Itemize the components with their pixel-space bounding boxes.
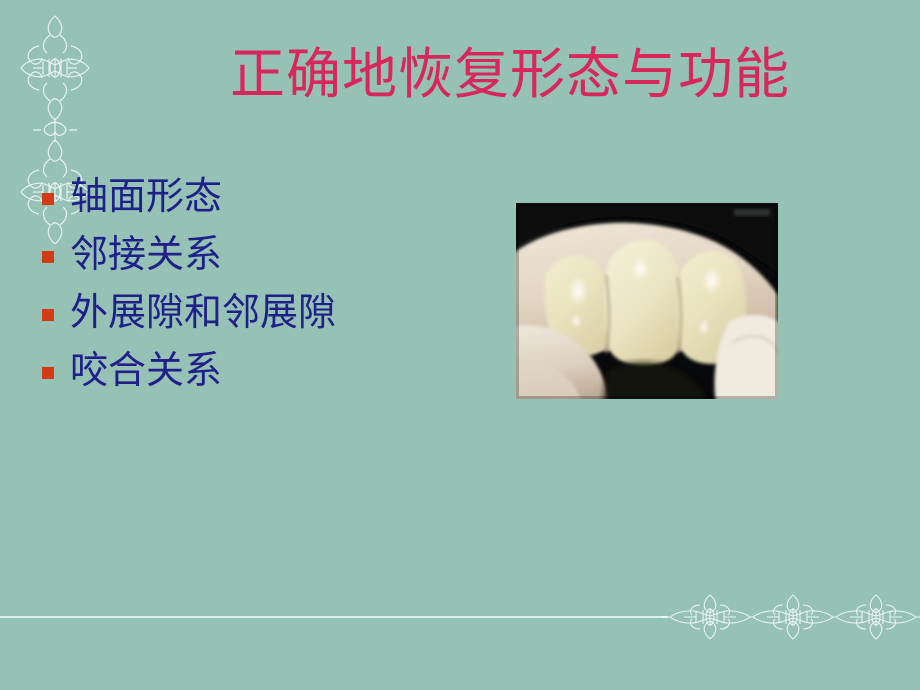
dental-photo-image bbox=[516, 203, 778, 399]
list-item-label: 外展隙和邻展隙 bbox=[70, 291, 336, 335]
horizontal-rule bbox=[0, 616, 668, 618]
page-title: 正确地恢复形态与功能 bbox=[180, 44, 840, 106]
dental-photo bbox=[516, 203, 778, 399]
list-item[interactable]: 轴面形态 bbox=[42, 168, 492, 226]
list-item[interactable]: 邻接关系 bbox=[42, 226, 492, 284]
list-item-label: 轴面形态 bbox=[70, 175, 222, 219]
slide-canvas: 正确地恢复形态与功能 轴面形态 邻接关系 外展隙和邻展隙 咬合关系 bbox=[0, 0, 920, 690]
square-bullet-icon bbox=[42, 193, 54, 205]
square-bullet-icon bbox=[42, 367, 54, 379]
square-bullet-icon bbox=[42, 251, 54, 263]
list-item-label: 邻接关系 bbox=[70, 233, 222, 277]
list-item-label: 咬合关系 bbox=[70, 349, 222, 393]
list-item[interactable]: 咬合关系 bbox=[42, 342, 492, 400]
square-bullet-icon bbox=[42, 309, 54, 321]
list-item[interactable]: 外展隙和邻展隙 bbox=[42, 284, 492, 342]
filigree-ornament-bottom-icon bbox=[662, 588, 920, 646]
bullet-list: 轴面形态 邻接关系 外展隙和邻展隙 咬合关系 bbox=[42, 168, 492, 400]
